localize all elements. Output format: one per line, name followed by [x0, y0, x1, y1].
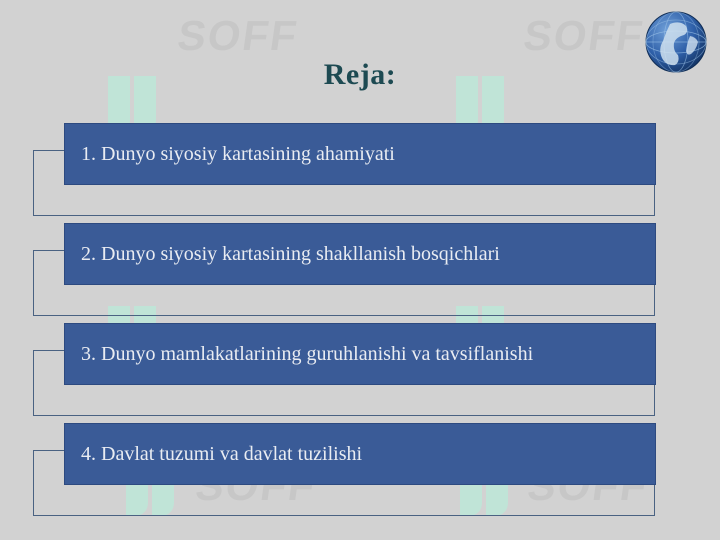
list-item[interactable]: 2. Dunyo siyosiy kartasining shakllanish… — [0, 220, 720, 320]
list-item-label: 4. Davlat tuzumi va davlat tuzilishi — [81, 442, 362, 466]
list-item-label: 2. Dunyo siyosiy kartasining shakllanish… — [81, 242, 500, 266]
list-item-label: 3. Dunyo mamlakatlarining guruhlanishi v… — [81, 342, 533, 366]
watermark-text: SOFF — [175, 12, 302, 60]
list-item-box[interactable]: 2. Dunyo siyosiy kartasining shakllanish… — [64, 223, 656, 285]
list-item-box[interactable]: 1. Dunyo siyosiy kartasining ahamiyati — [64, 123, 656, 185]
list-item-label: 1. Dunyo siyosiy kartasining ahamiyati — [81, 142, 395, 166]
agenda-list: 1. Dunyo siyosiy kartasining ahamiyati 2… — [0, 120, 720, 520]
list-item-box[interactable]: 3. Dunyo mamlakatlarining guruhlanishi v… — [64, 323, 656, 385]
list-item[interactable]: 3. Dunyo mamlakatlarining guruhlanishi v… — [0, 320, 720, 420]
list-item[interactable]: 1. Dunyo siyosiy kartasining ahamiyati — [0, 120, 720, 220]
list-item-box[interactable]: 4. Davlat tuzumi va davlat tuzilishi — [64, 423, 656, 485]
page-title: Reja: — [0, 58, 720, 92]
watermark-text: SOFF — [521, 12, 648, 60]
list-item[interactable]: 4. Davlat tuzumi va davlat tuzilishi — [0, 420, 720, 520]
